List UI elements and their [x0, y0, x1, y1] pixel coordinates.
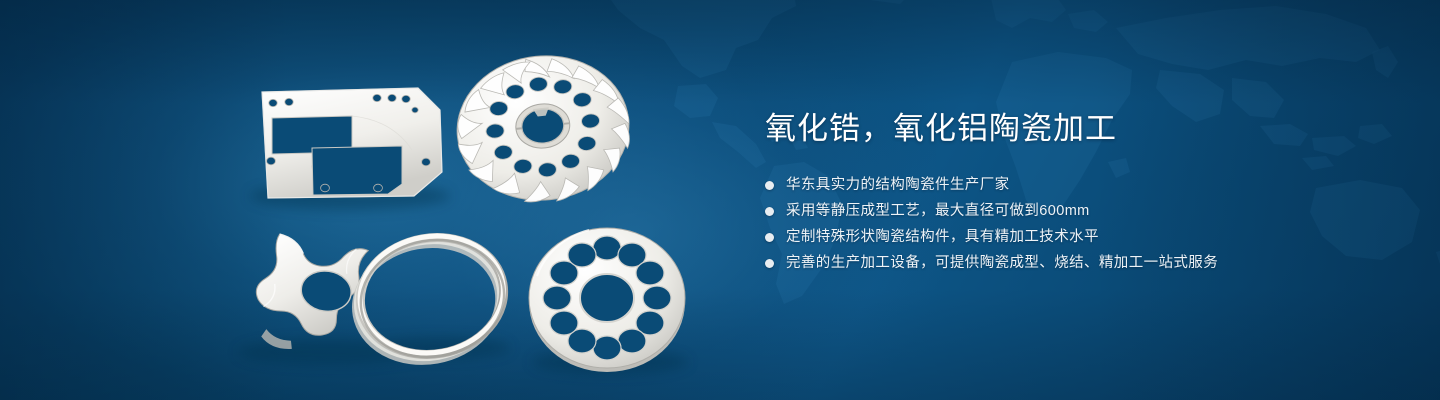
list-item: 定制特殊形状陶瓷结构件，具有精加工技术水平: [765, 224, 1385, 250]
page-title: 氧化锆，氧化铝陶瓷加工: [765, 108, 1385, 150]
list-item-label: 定制特殊形状陶瓷结构件，具有精加工技术水平: [786, 224, 1099, 250]
list-item: 华东具实力的结构陶瓷件生产厂家: [765, 172, 1385, 198]
bullet-dot-icon: [765, 259, 774, 268]
list-item-label: 华东具实力的结构陶瓷件生产厂家: [786, 172, 1010, 198]
bullet-dot-icon: [765, 207, 774, 216]
list-item-label: 采用等静压成型工艺，最大直径可做到600mm: [786, 198, 1090, 224]
feature-list: 华东具实力的结构陶瓷件生产厂家 采用等静压成型工艺，最大直径可做到600mm 定…: [765, 172, 1385, 276]
list-item: 完善的生产加工设备，可提供陶瓷成型、烧结、精加工一站式服务: [765, 250, 1385, 276]
banner-copy: 氧化锆，氧化铝陶瓷加工 华东具实力的结构陶瓷件生产厂家 采用等静压成型工艺，最大…: [765, 108, 1385, 276]
hero-banner: 氧化锆，氧化铝陶瓷加工 华东具实力的结构陶瓷件生产厂家 采用等静压成型工艺，最大…: [0, 0, 1440, 400]
list-item: 采用等静压成型工艺，最大直径可做到600mm: [765, 198, 1385, 224]
bullet-dot-icon: [765, 233, 774, 242]
bullet-dot-icon: [765, 181, 774, 190]
list-item-label: 完善的生产加工设备，可提供陶瓷成型、烧结、精加工一站式服务: [786, 250, 1218, 276]
